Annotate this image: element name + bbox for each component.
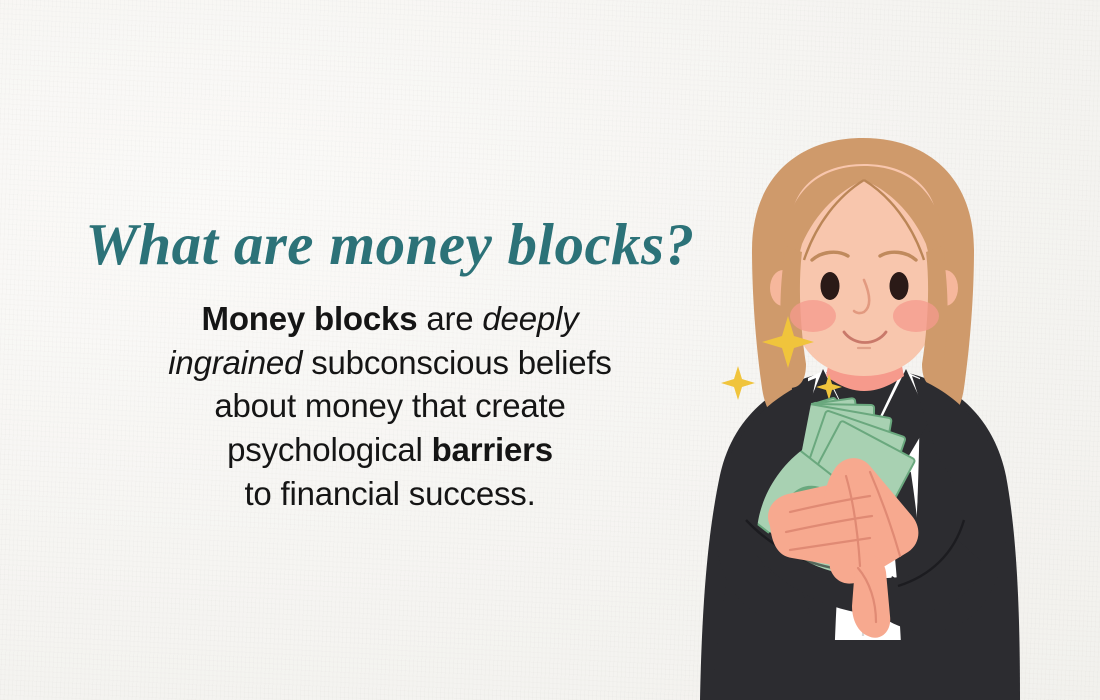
body-span-italic: deeply — [482, 300, 578, 337]
body-span-regular: to financial success. — [244, 475, 535, 512]
body-span-italic: ingrained — [168, 344, 302, 381]
body-span-regular: are — [417, 300, 482, 337]
illustration-woman-holding-cash: $ — [620, 120, 1100, 700]
eye-left — [821, 272, 840, 300]
body-span-bold: barriers — [432, 431, 553, 468]
blush-right — [893, 300, 939, 332]
body-span-bold: Money blocks — [202, 300, 418, 337]
body-span-regular: about money that create — [214, 387, 565, 424]
body-span-regular: subconscious beliefs — [302, 344, 611, 381]
eye-right — [890, 272, 909, 300]
poster-canvas: What are money blocks? Money blocks are … — [0, 0, 1100, 700]
sparkle-icon-medium — [721, 366, 755, 400]
blush-left — [790, 300, 836, 332]
body-span-regular: psychological — [227, 431, 431, 468]
